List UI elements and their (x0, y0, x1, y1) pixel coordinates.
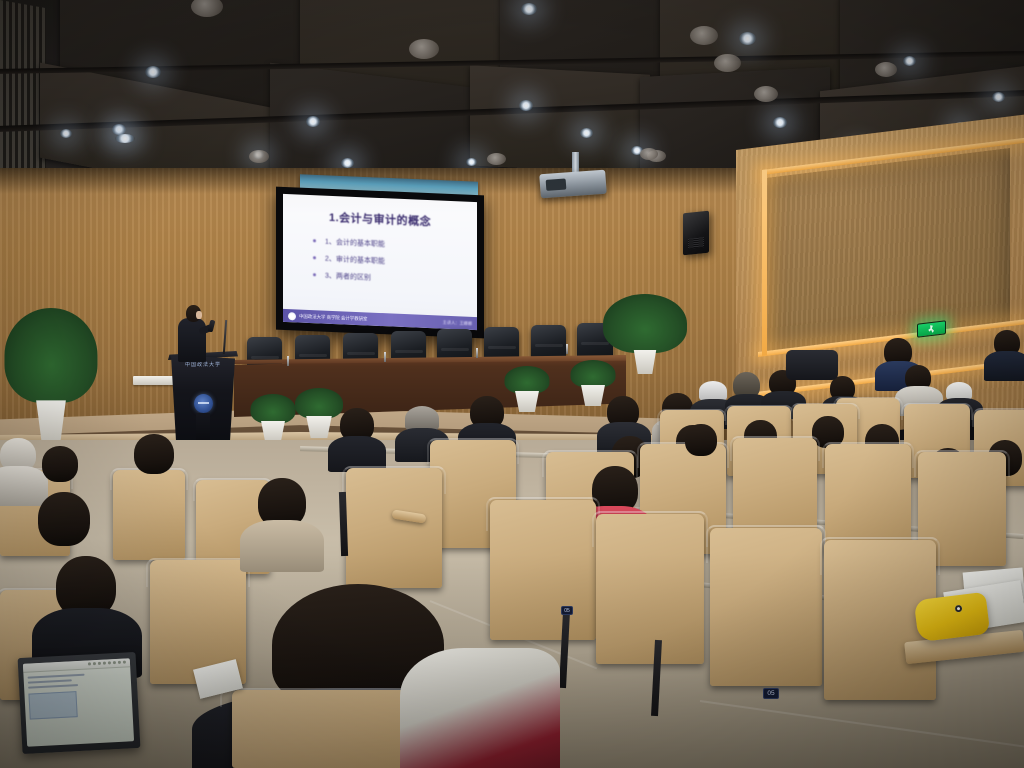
auditorium-seat[interactable] (710, 528, 822, 686)
stage-potted-plant (258, 394, 288, 442)
stage-potted-plant (578, 360, 608, 406)
ceiling-downlight (466, 158, 477, 166)
table-microphone (384, 352, 386, 362)
auditorium-seat[interactable] (113, 470, 185, 560)
plant-pot (303, 416, 335, 438)
plant-foliage (603, 294, 687, 353)
ceiling-downlight (519, 100, 533, 111)
ceiling-downlight (739, 32, 756, 45)
plant-foliage (571, 360, 616, 388)
cove-light-left (762, 169, 767, 356)
auditorium-seat[interactable] (346, 468, 442, 588)
lecture-hall-photo: 1.会计与审计的概念 1、会计的基本职能 2、审计的基本职能 3、两者的区别 中… (0, 0, 1024, 768)
person-shoulders (984, 351, 1024, 381)
plant-pot (631, 350, 659, 374)
plant-foliage (295, 388, 343, 419)
person-shoulders (240, 520, 324, 572)
ceiling-diffuser (754, 86, 778, 102)
ceiling-downlight (992, 92, 1005, 102)
stage-potted-plant (303, 388, 335, 438)
seat-number-badge: 05 (561, 606, 573, 615)
laptop-document-lines (28, 673, 92, 691)
bag-on-seat (786, 350, 838, 380)
ceiling-downlight (521, 3, 537, 15)
ceiling-downlight (115, 134, 135, 143)
slide-title: 1.会计与审计的概念 (283, 207, 477, 231)
corner-potted-plant (20, 308, 82, 440)
auditorium-seat[interactable] (596, 514, 704, 664)
plant-foliage (251, 394, 296, 424)
seat-back (490, 500, 596, 640)
presenter-face (196, 311, 202, 319)
podium-university-text: 中国政法大学 (176, 361, 230, 368)
table-microphone (566, 344, 568, 354)
slide-bullet: 2、审计的基本职能 (313, 253, 477, 270)
ceiling-downlight (903, 56, 916, 66)
ceiling-diffuser (714, 54, 741, 72)
yellow-backpack (914, 592, 991, 642)
auditorium-seat[interactable] (490, 500, 596, 640)
seat-back (113, 470, 185, 560)
ceiling-projector (539, 170, 607, 199)
ceiling-downlight (773, 117, 787, 128)
corner-potted-plant (617, 294, 673, 374)
person-head (42, 446, 78, 482)
seat-back (346, 468, 442, 588)
laptop-screen[interactable] (23, 658, 134, 746)
plant-pot (578, 385, 608, 406)
person-white-cap (699, 381, 727, 401)
plant-foliage (505, 366, 550, 394)
ceiling-diffuser (690, 26, 718, 45)
seat-number-badge: 05 (763, 688, 779, 699)
projected-slide: 1.会计与审计的概念 1、会计的基本职能 2、审计的基本职能 3、两者的区别 中… (283, 194, 477, 330)
person-head (685, 424, 717, 456)
ceiling-downlight (341, 158, 354, 168)
ceiling-downlight (580, 128, 593, 138)
slide-bullet-list: 1、会计的基本职能 2、审计的基本职能 3、两者的区别 (313, 236, 477, 294)
presenter-body (178, 318, 206, 362)
stage-potted-plant (512, 366, 542, 412)
wall-control-panel[interactable] (133, 376, 179, 385)
seat-back (596, 514, 704, 664)
open-laptop[interactable] (18, 652, 141, 754)
wall-speaker (683, 211, 709, 256)
slide-bullet: 3、两者的区别 (313, 270, 477, 287)
ceiling-diffuser (249, 150, 269, 163)
plant-pot (32, 400, 69, 440)
laptop-document-table (28, 691, 77, 719)
ceiling-diffuser (409, 39, 439, 59)
ceiling-diffuser (875, 62, 897, 77)
ceiling-downlight (306, 116, 320, 127)
ceiling-diffuser (487, 153, 506, 165)
person-head (38, 492, 90, 546)
right-wall-inset-panel (766, 148, 1010, 354)
running-man-icon (928, 325, 935, 334)
slide-footer-text: 中国政法大学 商学院 会计学教研室 (299, 313, 367, 322)
table-microphone (287, 356, 289, 366)
person-shoulders (400, 648, 560, 768)
person-shoulders (0, 466, 48, 506)
podium-base (196, 413, 210, 443)
plant-pot (258, 421, 288, 442)
seat-back (710, 528, 822, 686)
slide-presenter-label: 主讲人：王娜娜 (443, 319, 472, 326)
ceiling-diffuser (640, 148, 658, 160)
university-emblem-icon (194, 394, 213, 413)
university-seal-icon (288, 312, 296, 320)
ceiling-downlight (60, 129, 72, 138)
ceiling-downlight (145, 66, 161, 78)
toolbar-dots-icon (88, 660, 126, 665)
person-head (134, 434, 174, 474)
plant-pot (512, 391, 542, 412)
executive-chair[interactable] (531, 325, 566, 361)
slide-bullet: 1、会计的基本职能 (313, 236, 477, 253)
table-microphone (476, 348, 478, 358)
plant-foliage (5, 308, 98, 403)
